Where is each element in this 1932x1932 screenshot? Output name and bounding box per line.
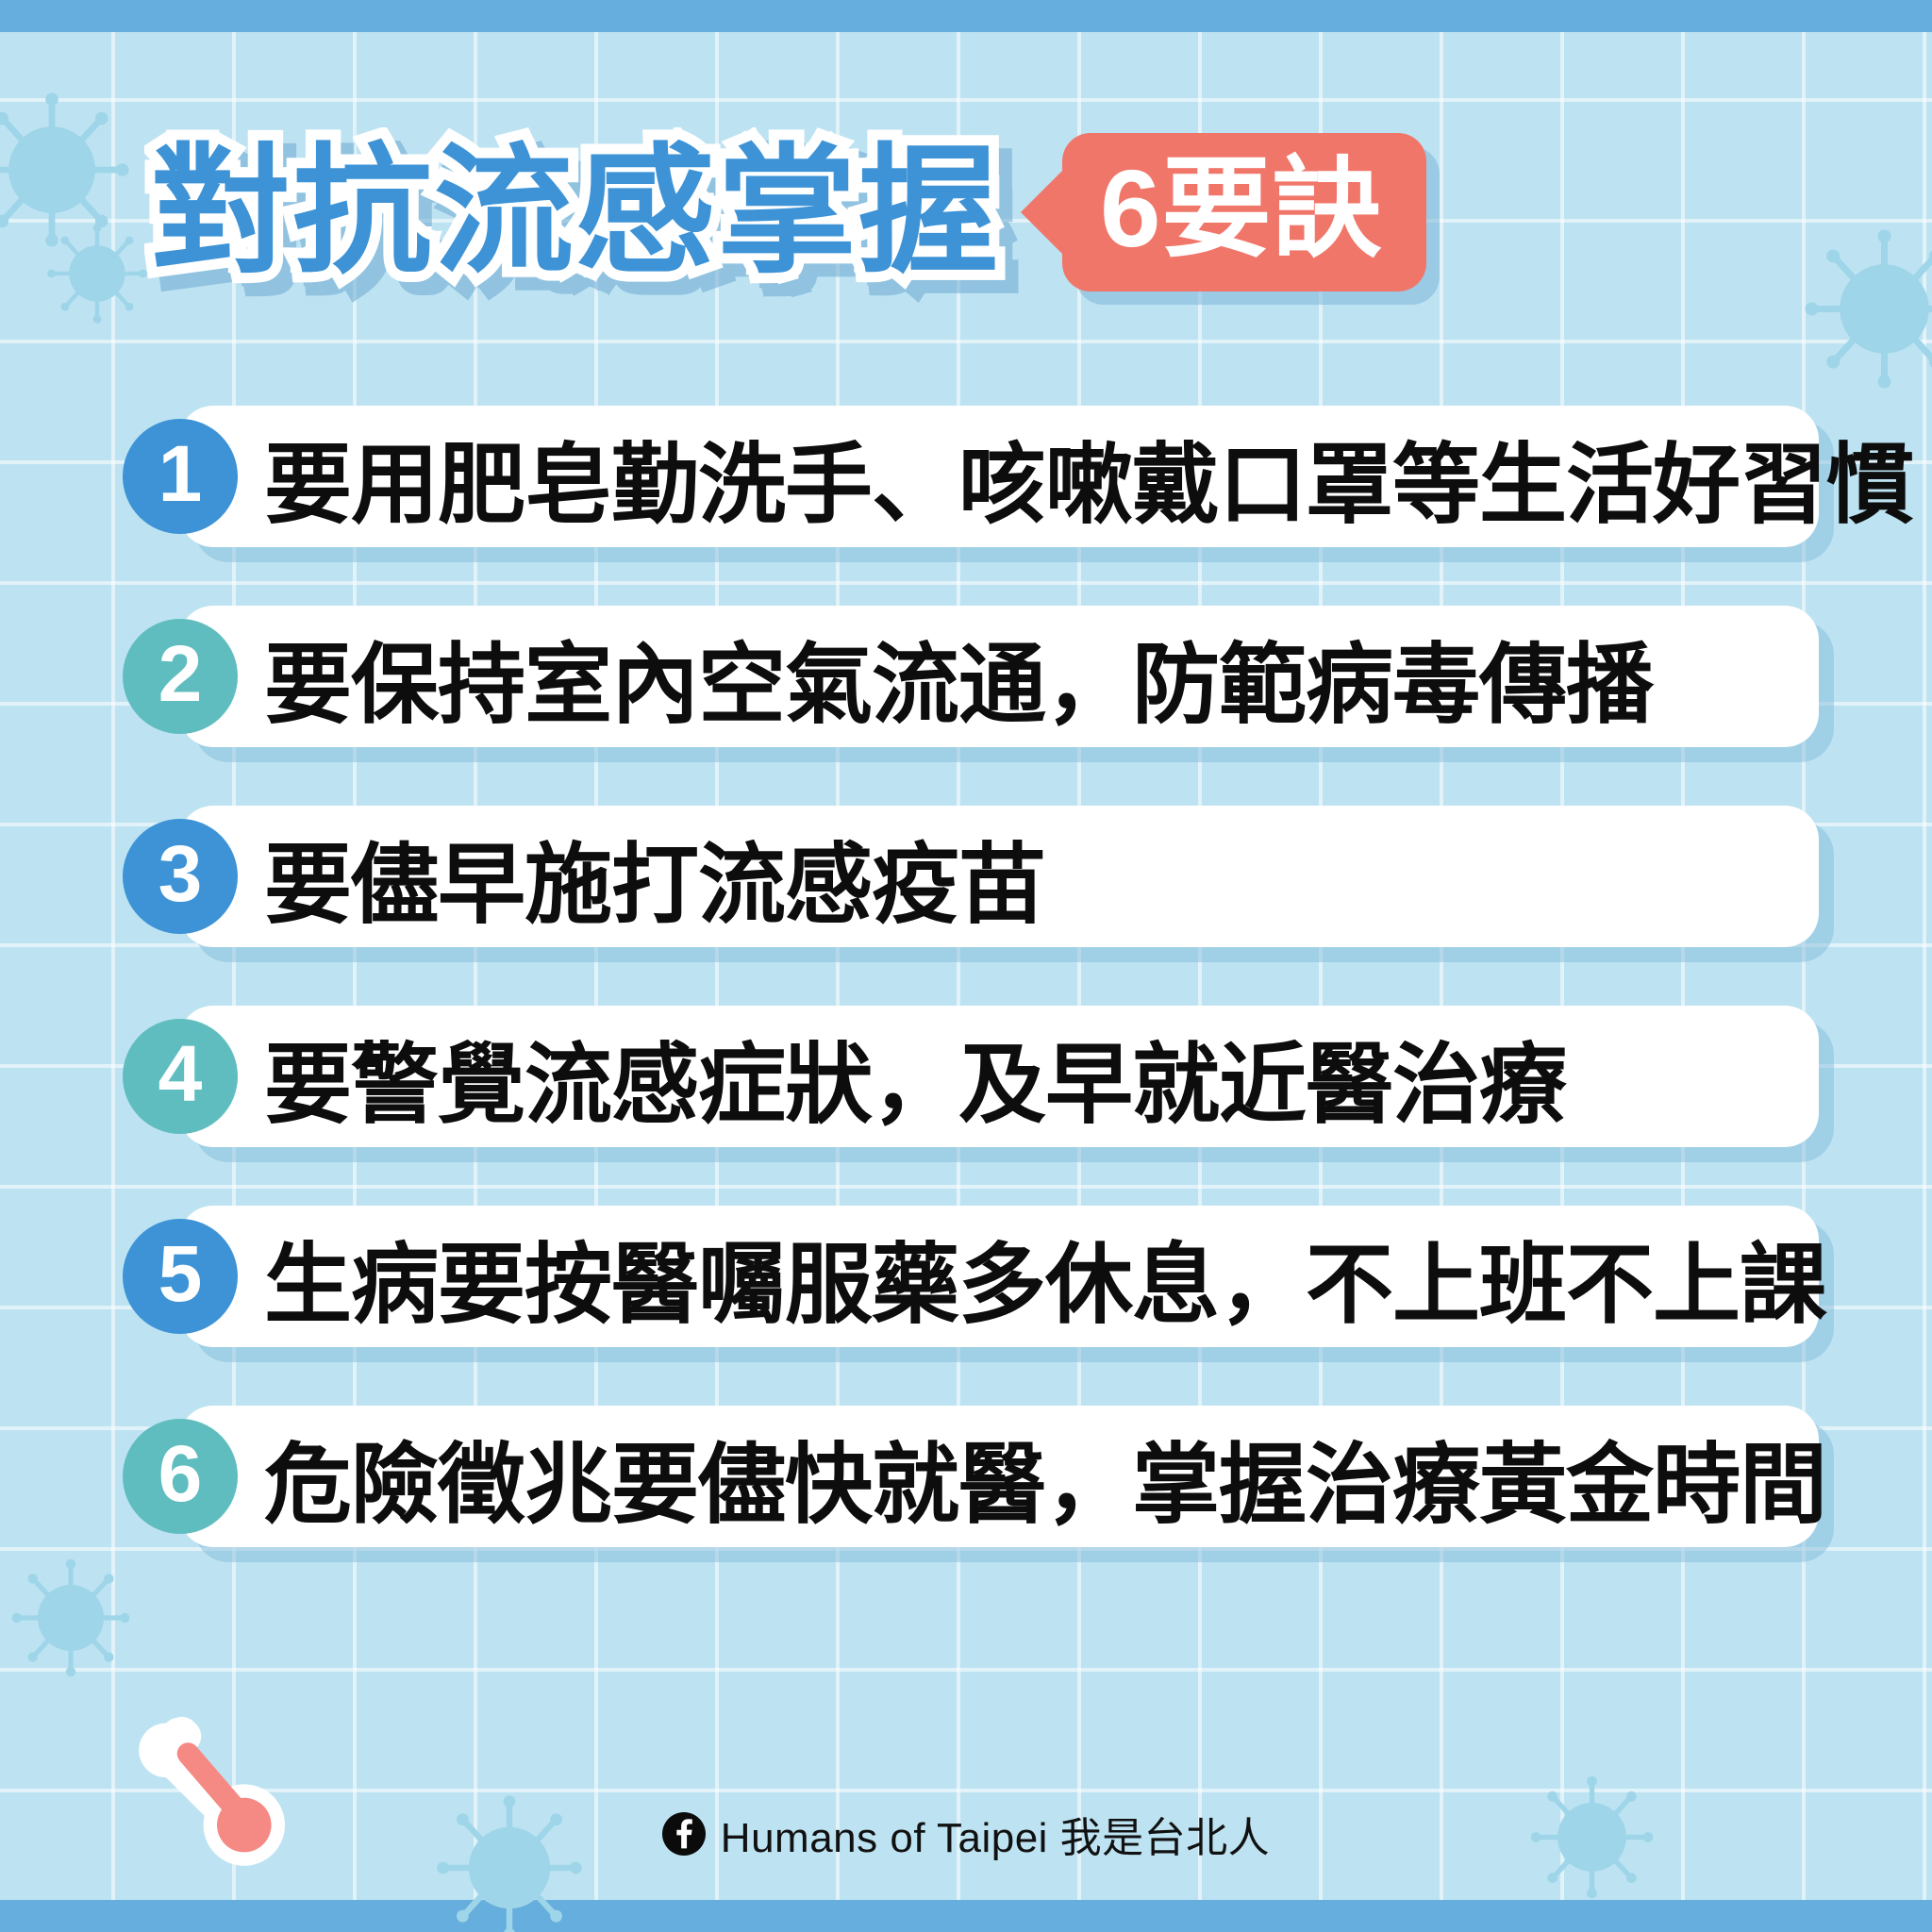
- poster-canvas: 對抗流感掌握 6要訣 1 要用肥皂勤洗手、咳嗽戴口罩等生活好習慣 2 要保持室內…: [0, 0, 1932, 1932]
- list-item-number: 3: [158, 828, 203, 920]
- list-item-number: 2: [158, 628, 203, 720]
- badge-label: 6要訣: [1100, 152, 1383, 267]
- bottom-bar: [0, 1900, 1932, 1932]
- facebook-icon: [662, 1812, 706, 1856]
- list-item: 3 要儘早施打流感疫苗: [123, 806, 1819, 947]
- footer: Humans of Taipei 我是台北人: [0, 1804, 1932, 1864]
- list-item: 4 要警覺流感症狀，及早就近醫治療: [123, 1006, 1819, 1147]
- list-item-number-badge: 2: [123, 619, 238, 734]
- list-item-text: 危險徵兆要儘快就醫，掌握治療黃金時間: [264, 1406, 1826, 1547]
- page-title: 對抗流感掌握: [151, 142, 1000, 282]
- list-item-text: 生病要按醫囑服藥多休息，不上班不上課: [264, 1206, 1826, 1347]
- list-item: 1 要用肥皂勤洗手、咳嗽戴口罩等生活好習慣: [123, 406, 1819, 547]
- tips-list: 1 要用肥皂勤洗手、咳嗽戴口罩等生活好習慣 2 要保持室內空氣流通，防範病毒傳播…: [0, 406, 1932, 1606]
- list-item: 2 要保持室內空氣流通，防範病毒傳播: [123, 606, 1819, 747]
- header: 對抗流感掌握 6要訣: [0, 113, 1932, 311]
- headline-badge: 6要訣: [1021, 133, 1426, 291]
- badge-body: 6要訣: [1062, 133, 1426, 291]
- left-arrow-icon: [1021, 169, 1064, 256]
- list-item-number: 4: [158, 1028, 203, 1120]
- list-item-text: 要用肥皂勤洗手、咳嗽戴口罩等生活好習慣: [264, 406, 1913, 547]
- list-item-number-badge: 5: [123, 1219, 238, 1334]
- list-item-text: 要警覺流感症狀，及早就近醫治療: [264, 1006, 1566, 1147]
- list-item-number-badge: 6: [123, 1419, 238, 1534]
- list-item: 5 生病要按醫囑服藥多休息，不上班不上課: [123, 1206, 1819, 1347]
- list-item-number: 1: [158, 428, 203, 520]
- list-item-number-badge: 4: [123, 1019, 238, 1134]
- list-item-number: 6: [158, 1428, 203, 1520]
- list-item-number-badge: 1: [123, 419, 238, 534]
- footer-text: Humans of Taipei 我是台北人: [721, 1804, 1270, 1864]
- list-item-text: 要儘早施打流感疫苗: [264, 806, 1045, 947]
- list-item-number: 5: [158, 1228, 203, 1320]
- top-bar: [0, 0, 1932, 32]
- list-item: 6 危險徵兆要儘快就醫，掌握治療黃金時間: [123, 1406, 1819, 1547]
- list-item-number-badge: 3: [123, 819, 238, 934]
- list-item-text: 要保持室內空氣流通，防範病毒傳播: [264, 606, 1653, 747]
